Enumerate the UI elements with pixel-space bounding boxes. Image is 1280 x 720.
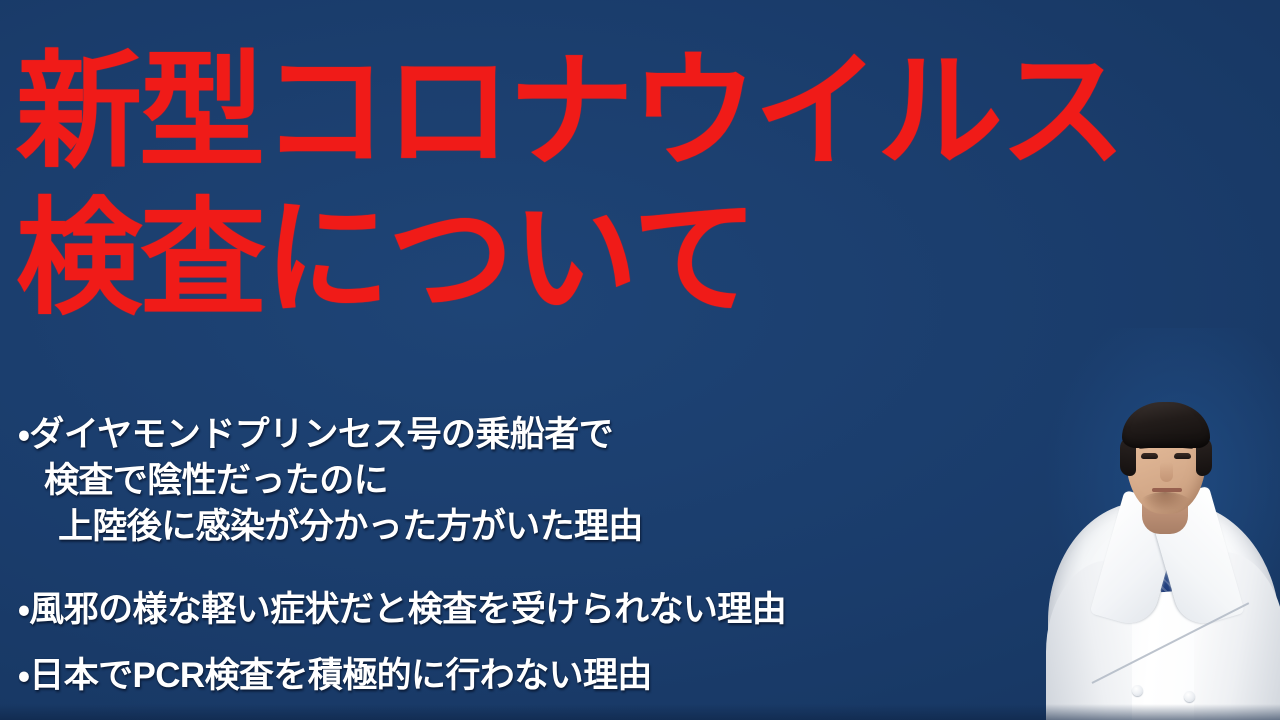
- bottom-edge-band: [0, 704, 1280, 720]
- video-title-slide: 新型コロナウイルス 検査について ・ダイヤモンドプリンセス号の乗船者で 検査で陰…: [0, 0, 1280, 720]
- bullet-list: ・ダイヤモンドプリンセス号の乗船者で 検査で陰性だったのに 上陸後に感染が分かっ…: [18, 412, 1058, 705]
- coat-button-2: [1184, 691, 1195, 702]
- presenter-photo: [1044, 328, 1280, 720]
- bullet-3-line-1: ・日本でPCR検査を積極的に行わない理由: [18, 653, 1058, 699]
- bullet-1-line-3: 上陸後に感染が分かった方がいた理由: [18, 504, 1058, 550]
- bullet-item-3: ・日本でPCR検査を積極的に行わない理由: [18, 653, 1058, 699]
- eye-left: [1141, 453, 1158, 459]
- bullet-item-2: ・風邪の様な軽い症状だと検査を受けられない理由: [18, 587, 1058, 633]
- slide-title: 新型コロナウイルス 検査について: [16, 38, 1266, 333]
- title-line-2: 検査について: [16, 185, 1266, 332]
- bullet-1-line-1: ・ダイヤモンドプリンセス号の乗船者で: [18, 412, 1058, 458]
- bullet-item-1: ・ダイヤモンドプリンセス号の乗船者で 検査で陰性だったのに 上陸後に感染が分かっ…: [18, 412, 1058, 551]
- eye-right: [1174, 453, 1191, 459]
- coat-button-1: [1132, 685, 1143, 696]
- bullet-spacer-1: [18, 557, 1058, 587]
- mouth: [1152, 488, 1182, 492]
- title-line-1: 新型コロナウイルス: [16, 38, 1266, 185]
- bullet-1-line-2: 検査で陰性だったのに: [18, 458, 1058, 504]
- bullet-spacer-2: [18, 639, 1058, 653]
- chin-shadow: [1142, 494, 1192, 510]
- nose: [1160, 462, 1173, 482]
- bullet-2-line-1: ・風邪の様な軽い症状だと検査を受けられない理由: [18, 587, 1058, 633]
